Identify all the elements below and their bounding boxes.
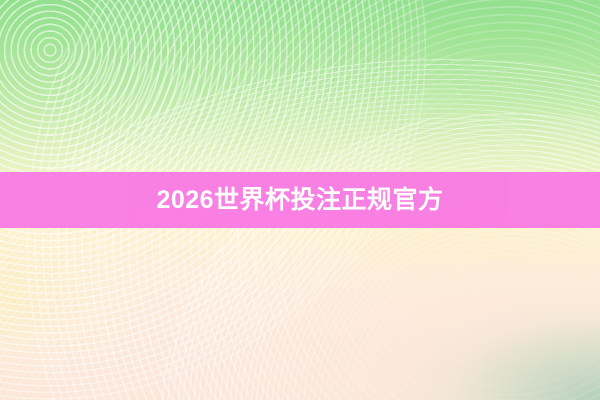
background-glow-left: [0, 220, 260, 400]
background-teal-accent: [300, 250, 600, 400]
promo-poster: 2026世界杯投注正规官方: [0, 0, 600, 400]
title-banner: 2026世界杯投注正规官方: [0, 172, 600, 228]
poster-title: 2026世界杯投注正规官方: [156, 188, 443, 213]
